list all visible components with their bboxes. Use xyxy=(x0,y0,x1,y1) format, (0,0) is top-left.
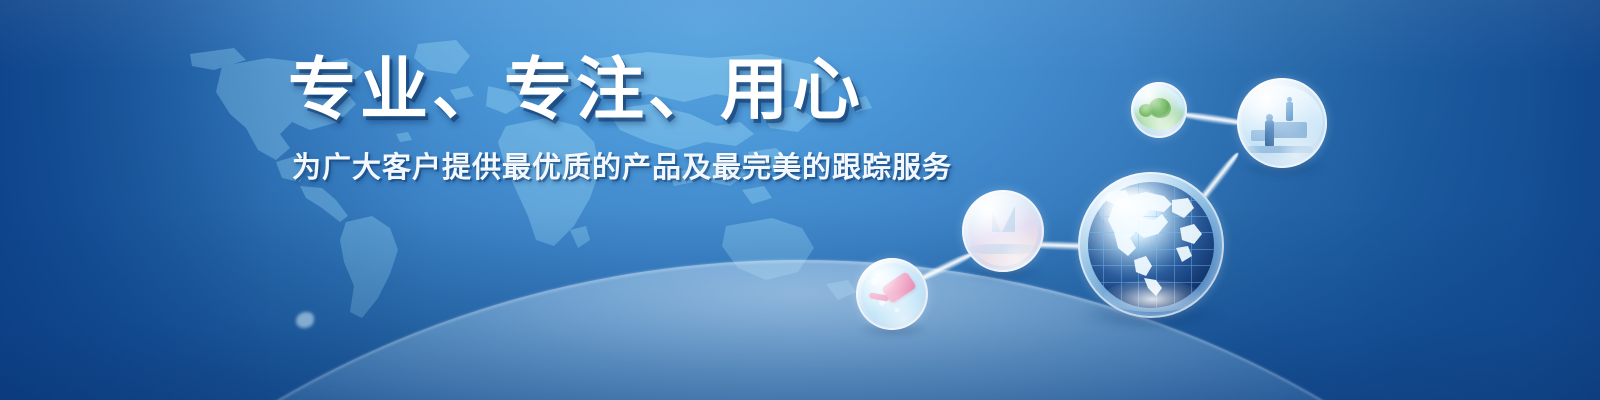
sail-secondary-icon xyxy=(992,212,1001,232)
conveyor-icon xyxy=(1247,146,1313,153)
connector-city-pink xyxy=(918,250,974,284)
sphere-city xyxy=(962,190,1044,272)
machine-icon xyxy=(1273,122,1307,138)
connector-nature-industry xyxy=(1181,110,1244,128)
shrub-icon xyxy=(1139,104,1153,117)
worker-head-icon xyxy=(1266,114,1273,121)
sail-icon xyxy=(1002,206,1015,232)
sphere-globe xyxy=(1078,172,1224,318)
worker-secondary-head-icon xyxy=(1287,97,1292,102)
sphere-cluster xyxy=(0,0,1600,400)
globe-land xyxy=(1088,182,1214,308)
worker-secondary-icon xyxy=(1286,102,1293,121)
water-line-icon xyxy=(968,244,1038,254)
sphere-industry xyxy=(1237,78,1327,168)
sphere-pink xyxy=(856,258,928,330)
sphere-nature xyxy=(1131,82,1187,138)
hero-banner: 专业、专注、用心 为广大客户提供最优质的产品及最完美的跟踪服务 xyxy=(0,0,1600,400)
worker-icon xyxy=(1265,120,1274,146)
